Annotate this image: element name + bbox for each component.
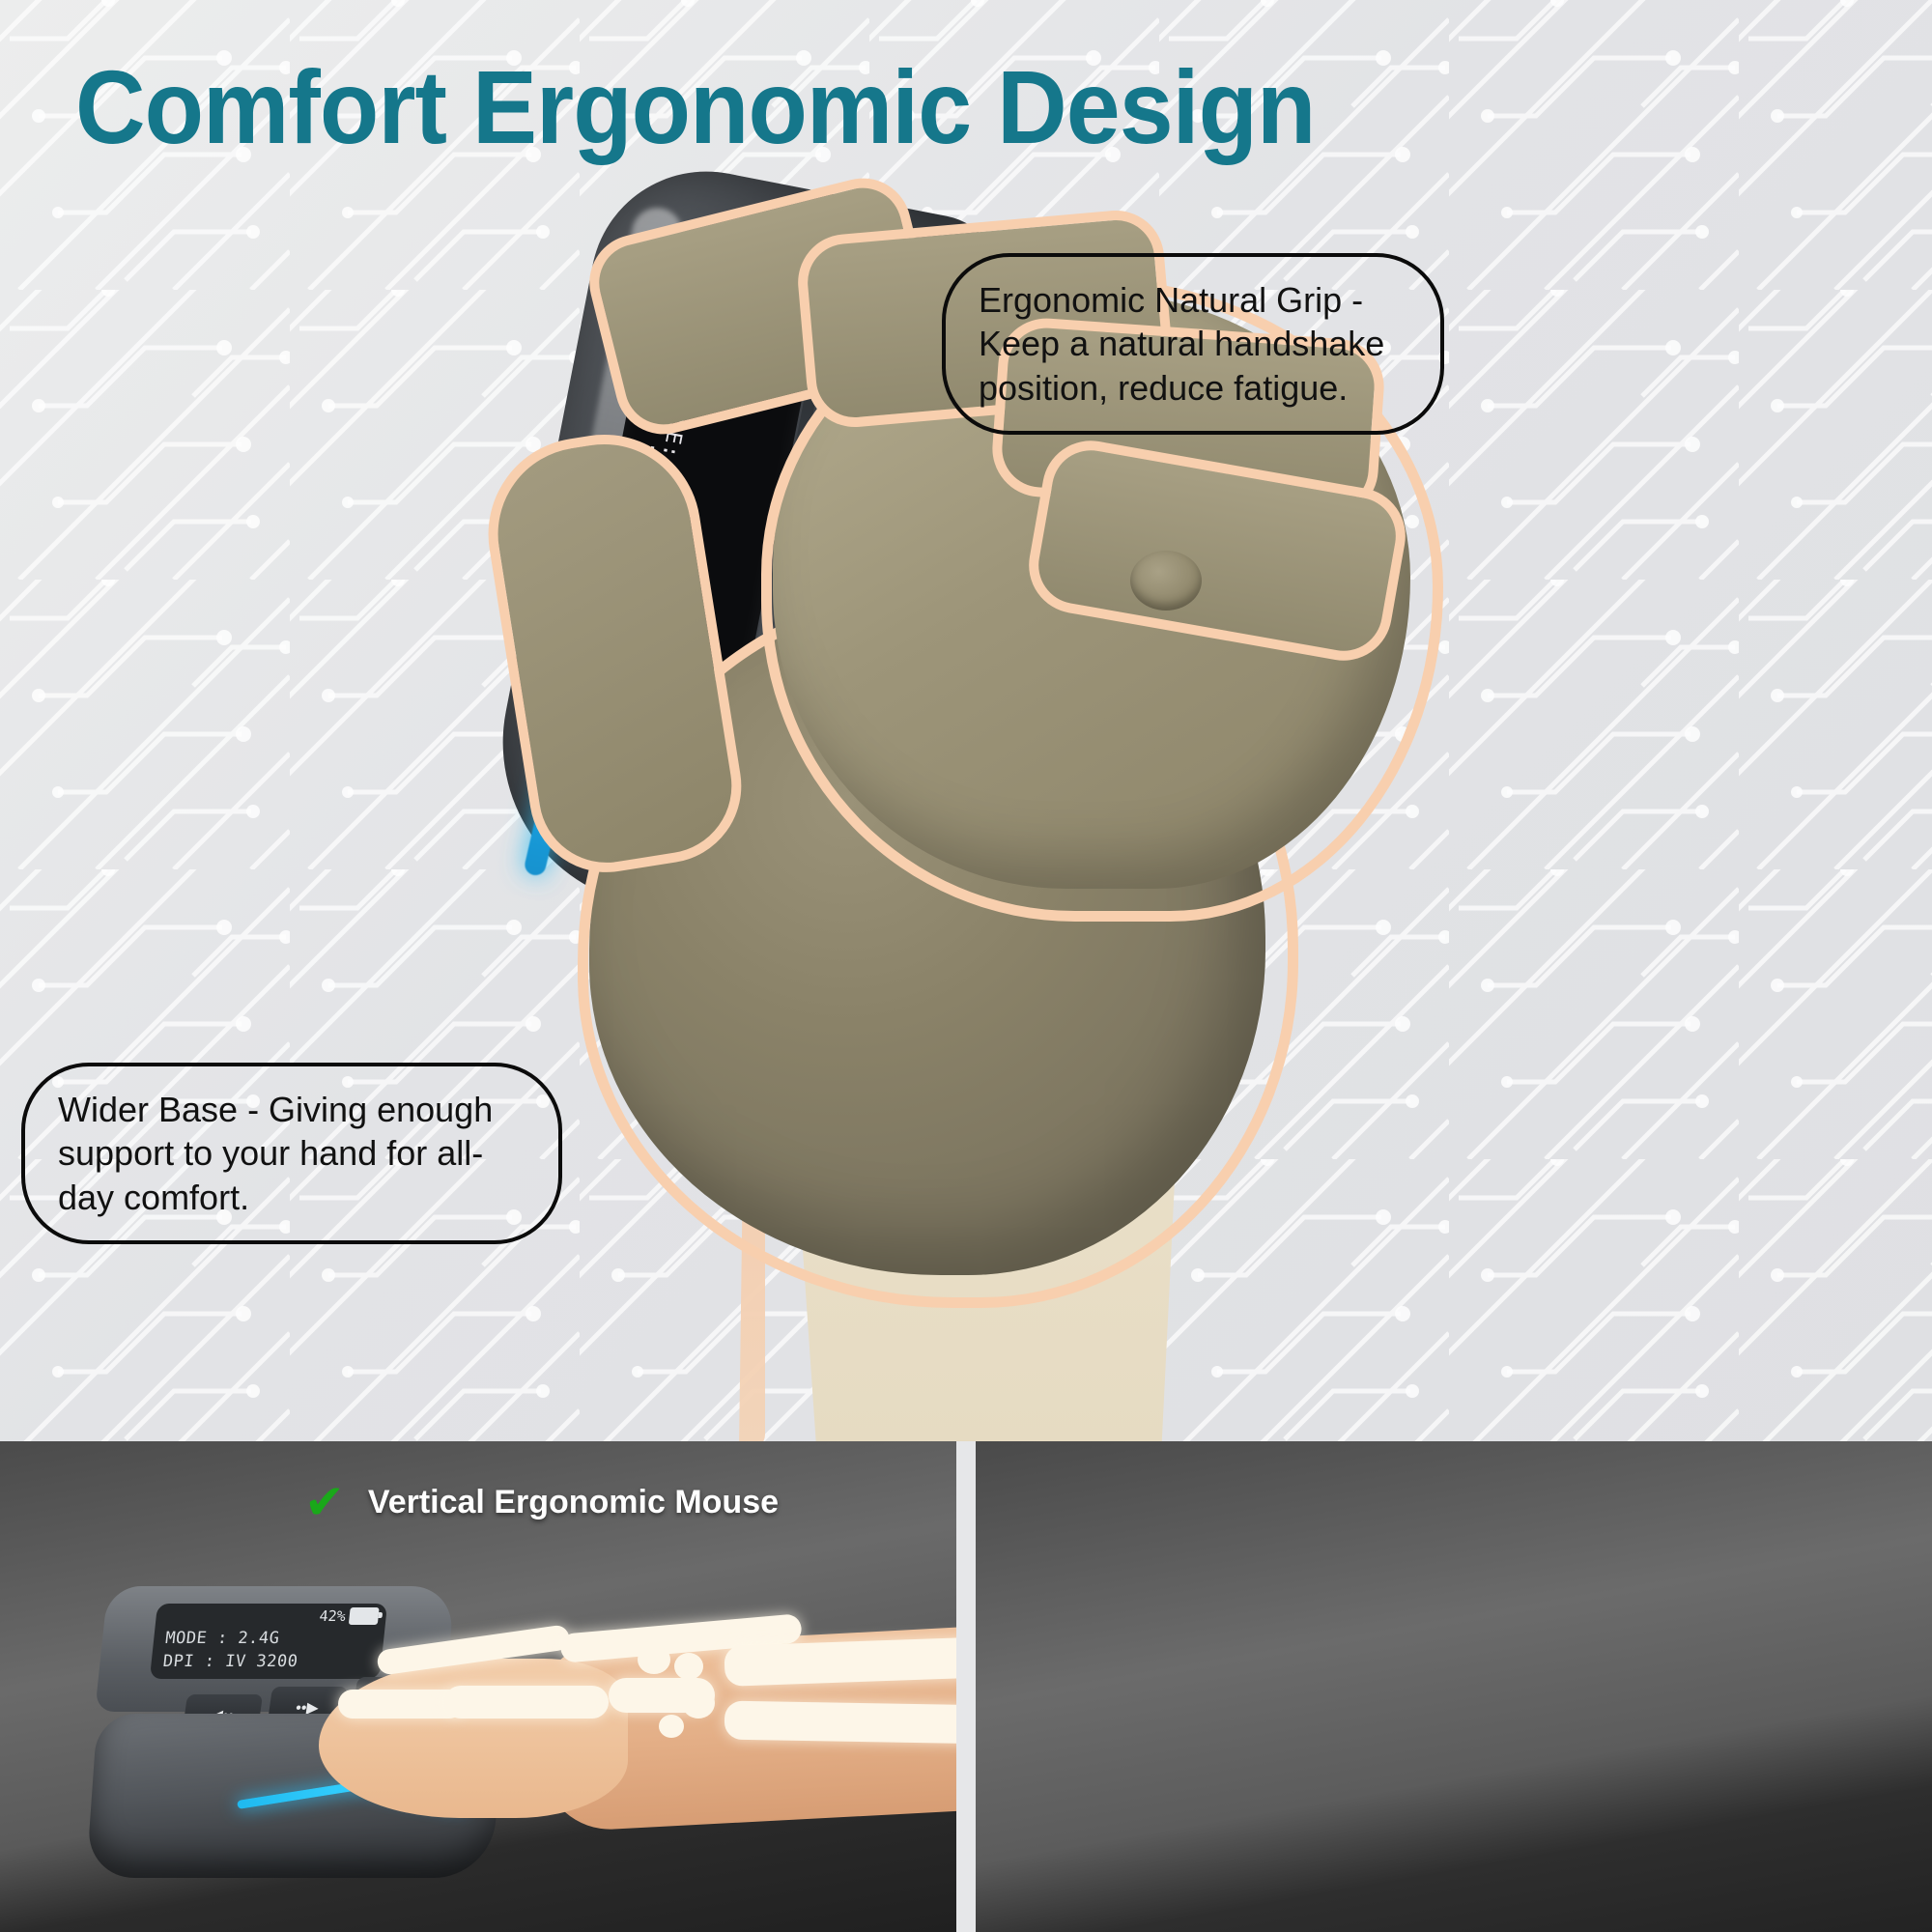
phalanx-bone (444, 1686, 609, 1719)
hero-section: Comfort Ergonomic Design MODE: 2.4G DPI … (0, 0, 1932, 1441)
radius-bone (724, 1636, 956, 1687)
callout-wider-base: Wider Base - Giving enough support to yo… (21, 1063, 562, 1244)
hand-with-xray-bones-neutral (319, 1620, 956, 1861)
callout-ergonomic-natural-grip: Ergonomic Natural Grip - Keep a natural … (942, 253, 1444, 435)
carpal-bone (659, 1715, 684, 1738)
product-feature-graphic: Comfort Ergonomic Design MODE: 2.4G DPI … (0, 0, 1932, 1932)
oled-mode-line-small: MODE : 2.4G (164, 1629, 280, 1648)
carpal-bone (638, 1645, 670, 1674)
carpal-bone (647, 1680, 678, 1709)
carpal-bone (682, 1688, 715, 1719)
panel-traditional-mouse: ✖ Traditional Mouse (976, 1441, 1932, 1932)
carpal-bone (674, 1653, 703, 1680)
palm (319, 1659, 628, 1818)
oled-dpi-line-small: DPI : IV 3200 (162, 1652, 299, 1671)
panel-left-header: ✔ Vertical Ergonomic Mouse (304, 1478, 779, 1526)
mouse-side-button[interactable] (1130, 551, 1202, 611)
ulna-bone (724, 1701, 956, 1745)
comparison-panels: 42% MODE : 2.4G DPI : IV 3200 ◀•• ••▶ ≡█ (0, 1441, 1932, 1932)
check-icon: ✔ (304, 1478, 345, 1526)
panel-left-label: Vertical Ergonomic Mouse (368, 1484, 779, 1521)
panel-vertical-ergonomic-mouse: 42% MODE : 2.4G DPI : IV 3200 ◀•• ••▶ ≡█ (0, 1441, 956, 1932)
